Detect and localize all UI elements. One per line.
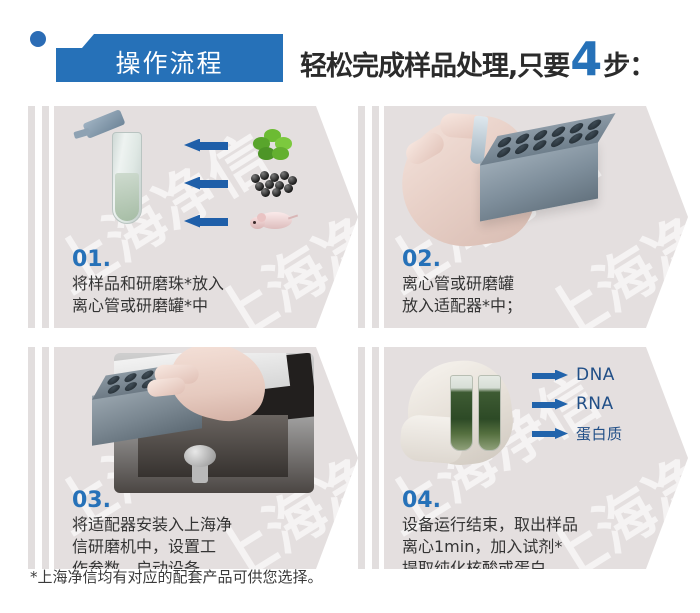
headline-suffix: 步： xyxy=(603,44,655,83)
mouse-icon xyxy=(246,206,300,236)
arrow-left-icon xyxy=(184,215,228,228)
step-text-line: 将适配器安装入上海净 xyxy=(72,514,342,536)
arrow-right-icon xyxy=(532,370,568,381)
steps-grid: 上海净信 上海净信 xyxy=(0,100,700,550)
section-badge: 操作流程 xyxy=(56,34,283,82)
section-badge-label: 操作流程 xyxy=(56,34,283,82)
step-04-text: 04. 设备运行结束，取出样品 离心1min，加入试剂* 提取纯化核酸或蛋白 xyxy=(402,489,672,569)
step-card-04: 上海净信 上海净信 DNA RNA xyxy=(358,347,688,569)
output-label-text: RNA xyxy=(576,394,614,414)
step-card-03: 上海净信 上海净信 xyxy=(28,347,358,569)
sample-row-mouse xyxy=(184,206,334,236)
step-text-line: 离心管或研磨罐*中 xyxy=(72,295,342,317)
output-label-protein: 蛋白质 xyxy=(532,423,682,444)
step-text-line: 放入适配器*中； xyxy=(402,295,672,317)
card-body: 上海净信 上海净信 02. 离心 xyxy=(384,106,688,328)
headline: 轻松完成样品处理,只要 4 步： xyxy=(300,36,655,83)
output-label-text: DNA xyxy=(576,365,615,385)
headline-prefix: 轻松完成样品处理,只要 xyxy=(300,44,569,83)
step-text-line: 离心管或研磨罐 xyxy=(402,273,672,295)
grinding-beads-icon xyxy=(246,168,300,198)
output-label-list: DNA RNA 蛋白质 xyxy=(532,365,682,453)
step-number: 01. xyxy=(72,248,342,271)
output-label-dna: DNA xyxy=(532,365,682,385)
step-04-illustration: DNA RNA 蛋白质 xyxy=(384,347,688,495)
card-stripe xyxy=(28,347,35,569)
card-body: 上海净信 上海净信 DNA RNA xyxy=(384,347,688,569)
step-card-01: 上海净信 上海净信 xyxy=(28,106,358,328)
step-card-02: 上海净信 上海净信 02. 离心 xyxy=(358,106,688,328)
header-accent-dot xyxy=(30,31,46,47)
step-02-text: 02. 离心管或研磨罐 放入适配器*中； xyxy=(402,248,672,317)
footer-note: *上海净信均有对应的配套产品可供您选择。 xyxy=(30,566,323,587)
step-text-line: 离心1min，加入试剂* xyxy=(402,536,672,558)
card-stripe xyxy=(28,106,35,328)
step-01-text: 01. 将样品和研磨珠*放入 离心管或研磨罐*中 xyxy=(72,248,342,317)
sample-row-leaf xyxy=(184,130,334,160)
step-03-text: 03. 将适配器安装入上海净 信研磨机中，设置工 作参数，启动设备 xyxy=(72,489,342,569)
arrow-left-icon xyxy=(184,177,228,190)
card-stripe xyxy=(358,106,365,328)
card-stripe xyxy=(372,347,379,569)
step-number: 03. xyxy=(72,489,342,512)
step-03-illustration xyxy=(54,347,358,495)
output-label-text: 蛋白质 xyxy=(576,423,623,444)
page-header: 操作流程 轻松完成样品处理,只要 4 步： xyxy=(0,0,700,100)
card-stripe xyxy=(358,347,365,569)
card-stripe xyxy=(372,106,379,328)
step-text-line: 提取纯化核酸或蛋白 xyxy=(402,558,672,569)
step-number: 02. xyxy=(402,248,672,271)
step-01-illustration xyxy=(54,106,358,254)
centrifuge-tube-icon xyxy=(112,132,142,224)
step-text-line: 将样品和研磨珠*放入 xyxy=(72,273,342,295)
step-02-illustration xyxy=(384,106,688,254)
step-text-line: 设备运行结束，取出样品 xyxy=(402,514,672,536)
adapter-block-icon xyxy=(480,139,598,222)
step-text-line: 信研磨机中，设置工 xyxy=(72,536,342,558)
card-stripe xyxy=(42,347,49,569)
arrow-left-icon xyxy=(184,139,228,152)
sample-tubes-icon xyxy=(450,375,510,457)
leaf-icon xyxy=(246,130,300,160)
card-body: 上海净信 上海净信 xyxy=(54,347,358,569)
step-number: 04. xyxy=(402,489,672,512)
arrow-right-icon xyxy=(532,428,568,439)
sample-row-beads xyxy=(184,168,334,198)
card-body: 上海净信 上海净信 xyxy=(54,106,358,328)
headline-step-count: 4 xyxy=(570,36,602,82)
output-label-rna: RNA xyxy=(532,394,682,414)
arrow-right-icon xyxy=(532,399,568,410)
card-stripe xyxy=(42,106,49,328)
